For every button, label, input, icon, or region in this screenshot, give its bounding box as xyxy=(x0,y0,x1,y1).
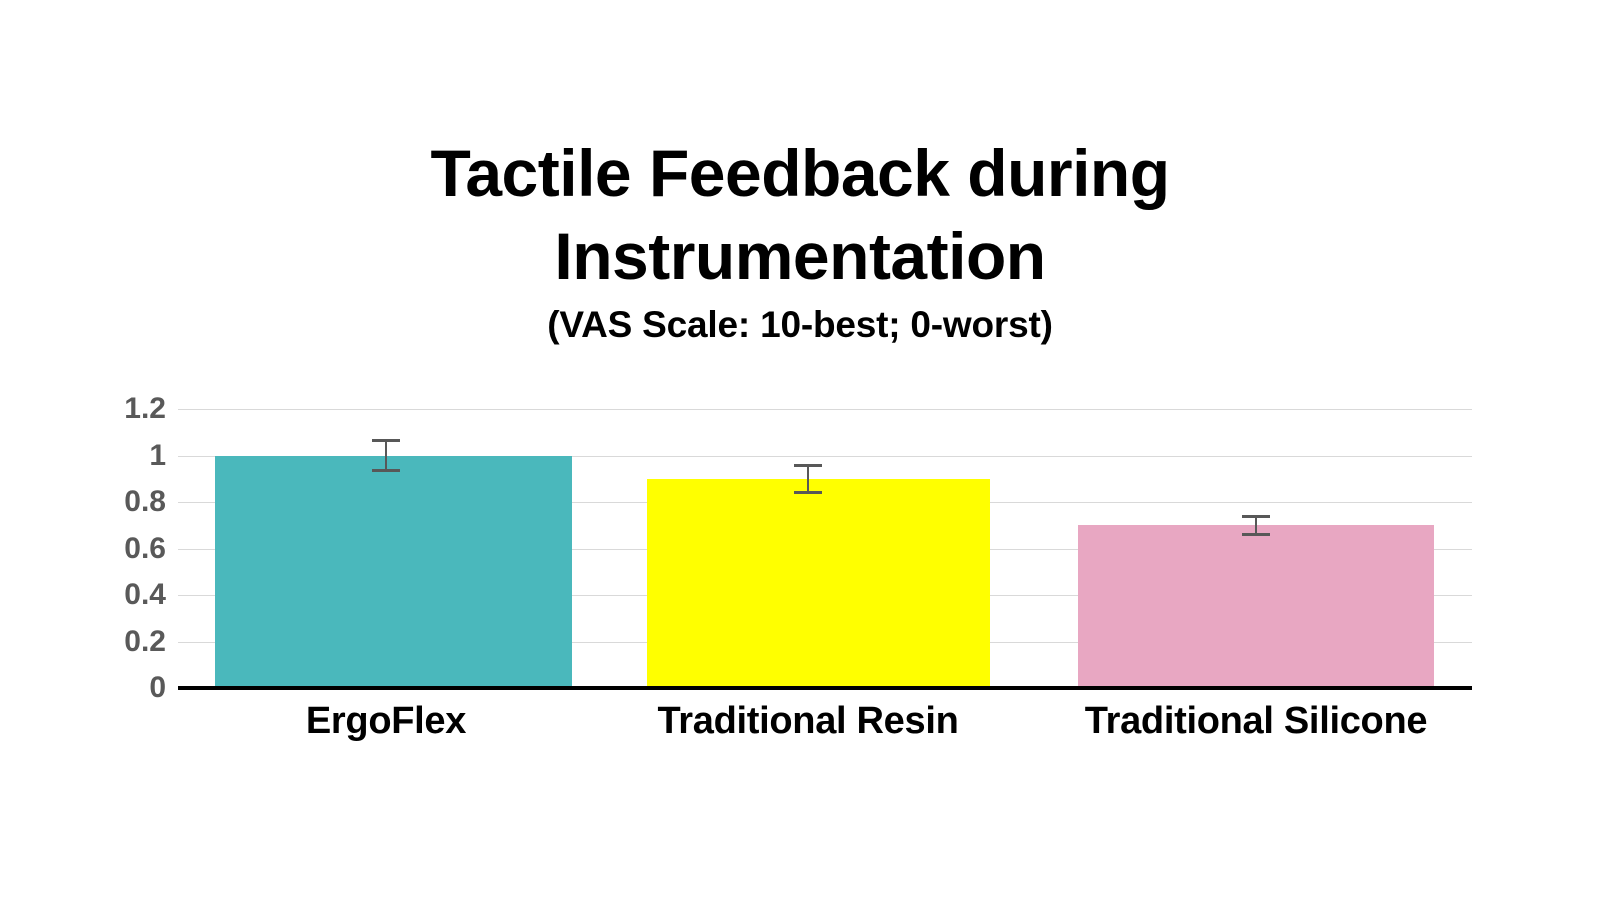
chart-title-line-2: Instrumentation xyxy=(0,215,1600,298)
error-bar-stem xyxy=(807,464,809,494)
gridline xyxy=(178,409,1472,410)
title-block: Tactile Feedback during Instrumentation … xyxy=(0,132,1600,346)
x-axis-label-traditional-silicone: Traditional Silicone xyxy=(1006,700,1506,743)
error-bar-cap-bottom xyxy=(794,491,822,494)
bar-traditional-silicone xyxy=(1078,525,1434,688)
y-axis-tick-label: 1 xyxy=(46,439,166,473)
chart-subtitle: (VAS Scale: 10-best; 0-worst) xyxy=(0,304,1600,346)
y-axis-tick-label: 0.4 xyxy=(46,578,166,612)
y-axis-tick-label: 0.6 xyxy=(46,532,166,566)
error-bar xyxy=(794,464,822,494)
chart-title: Tactile Feedback during Instrumentation xyxy=(0,132,1600,298)
error-bar xyxy=(1242,515,1270,536)
x-axis-label-traditional-resin: Traditional Resin xyxy=(578,700,1038,743)
y-axis-tick-label: 1.2 xyxy=(46,392,166,426)
plot-area xyxy=(178,409,1472,688)
error-bar-cap-bottom xyxy=(1242,533,1270,536)
y-axis-tick-label: 0 xyxy=(46,671,166,705)
error-bar-stem xyxy=(385,439,387,472)
bar-ergoflex xyxy=(215,456,572,689)
error-bar xyxy=(372,439,400,472)
y-axis-tick-label: 0.2 xyxy=(46,625,166,659)
bar-traditional-resin xyxy=(647,479,990,688)
y-axis-tick-label: 0.8 xyxy=(46,485,166,519)
chart-title-line-1: Tactile Feedback during xyxy=(0,132,1600,215)
error-bar-cap-bottom xyxy=(372,469,400,472)
bar-chart: Tactile Feedback during Instrumentation … xyxy=(0,0,1600,900)
x-axis-line xyxy=(178,686,1472,690)
x-axis-label-ergoflex: ErgoFlex xyxy=(176,700,596,743)
